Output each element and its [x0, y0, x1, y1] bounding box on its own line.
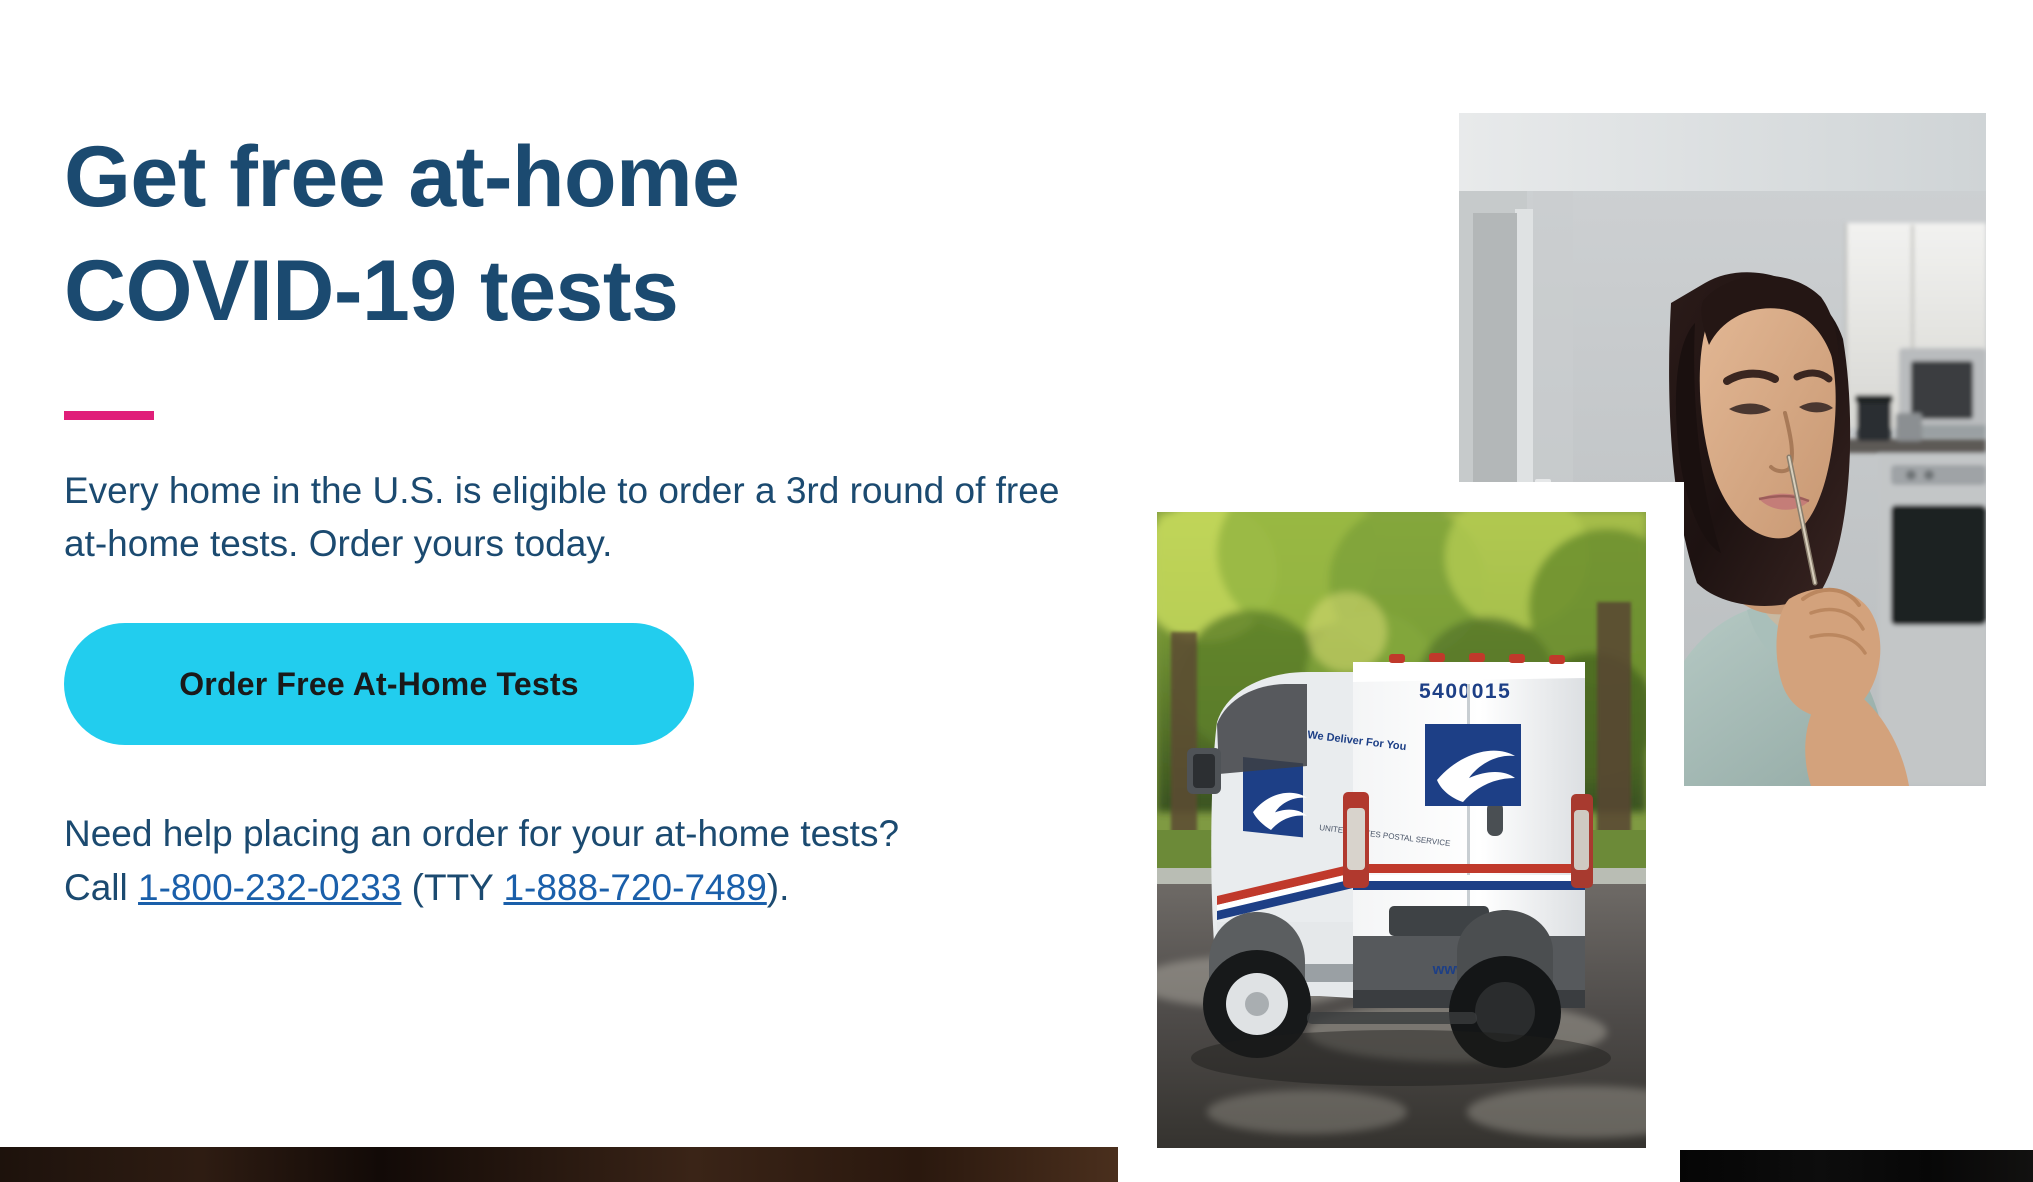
- tty-prefix: (TTY: [401, 867, 503, 908]
- hero-description: Every home in the U.S. is eligible to or…: [64, 464, 1074, 571]
- hero-page: Get free at-home COVID-19 tests Every ho…: [0, 0, 2033, 1182]
- call-prefix: Call: [64, 867, 138, 908]
- svg-text:5400015: 5400015: [1419, 680, 1511, 703]
- usps-delivery-truck-photo: 5400015 We Deliver For You UNITED STATES…: [1157, 512, 1646, 1148]
- accent-divider: [64, 411, 154, 420]
- help-suffix: ).: [767, 867, 790, 908]
- next-section-peek-right: [1680, 1150, 2033, 1182]
- order-free-tests-button[interactable]: Order Free At-Home Tests: [64, 623, 694, 745]
- hero-content: Get free at-home COVID-19 tests Every ho…: [64, 120, 1104, 951]
- phone-link-tty[interactable]: 1-888-720-7489: [503, 867, 766, 908]
- help-text: Need help placing an order for your at-h…: [64, 807, 1114, 914]
- phone-link-main[interactable]: 1-800-232-0233: [138, 867, 401, 908]
- next-section-peek-left: [0, 1147, 1118, 1182]
- cta-container: Order Free At-Home Tests: [64, 623, 1104, 745]
- page-title: Get free at-home COVID-19 tests: [64, 120, 1024, 349]
- help-question: Need help placing an order for your at-h…: [64, 813, 899, 854]
